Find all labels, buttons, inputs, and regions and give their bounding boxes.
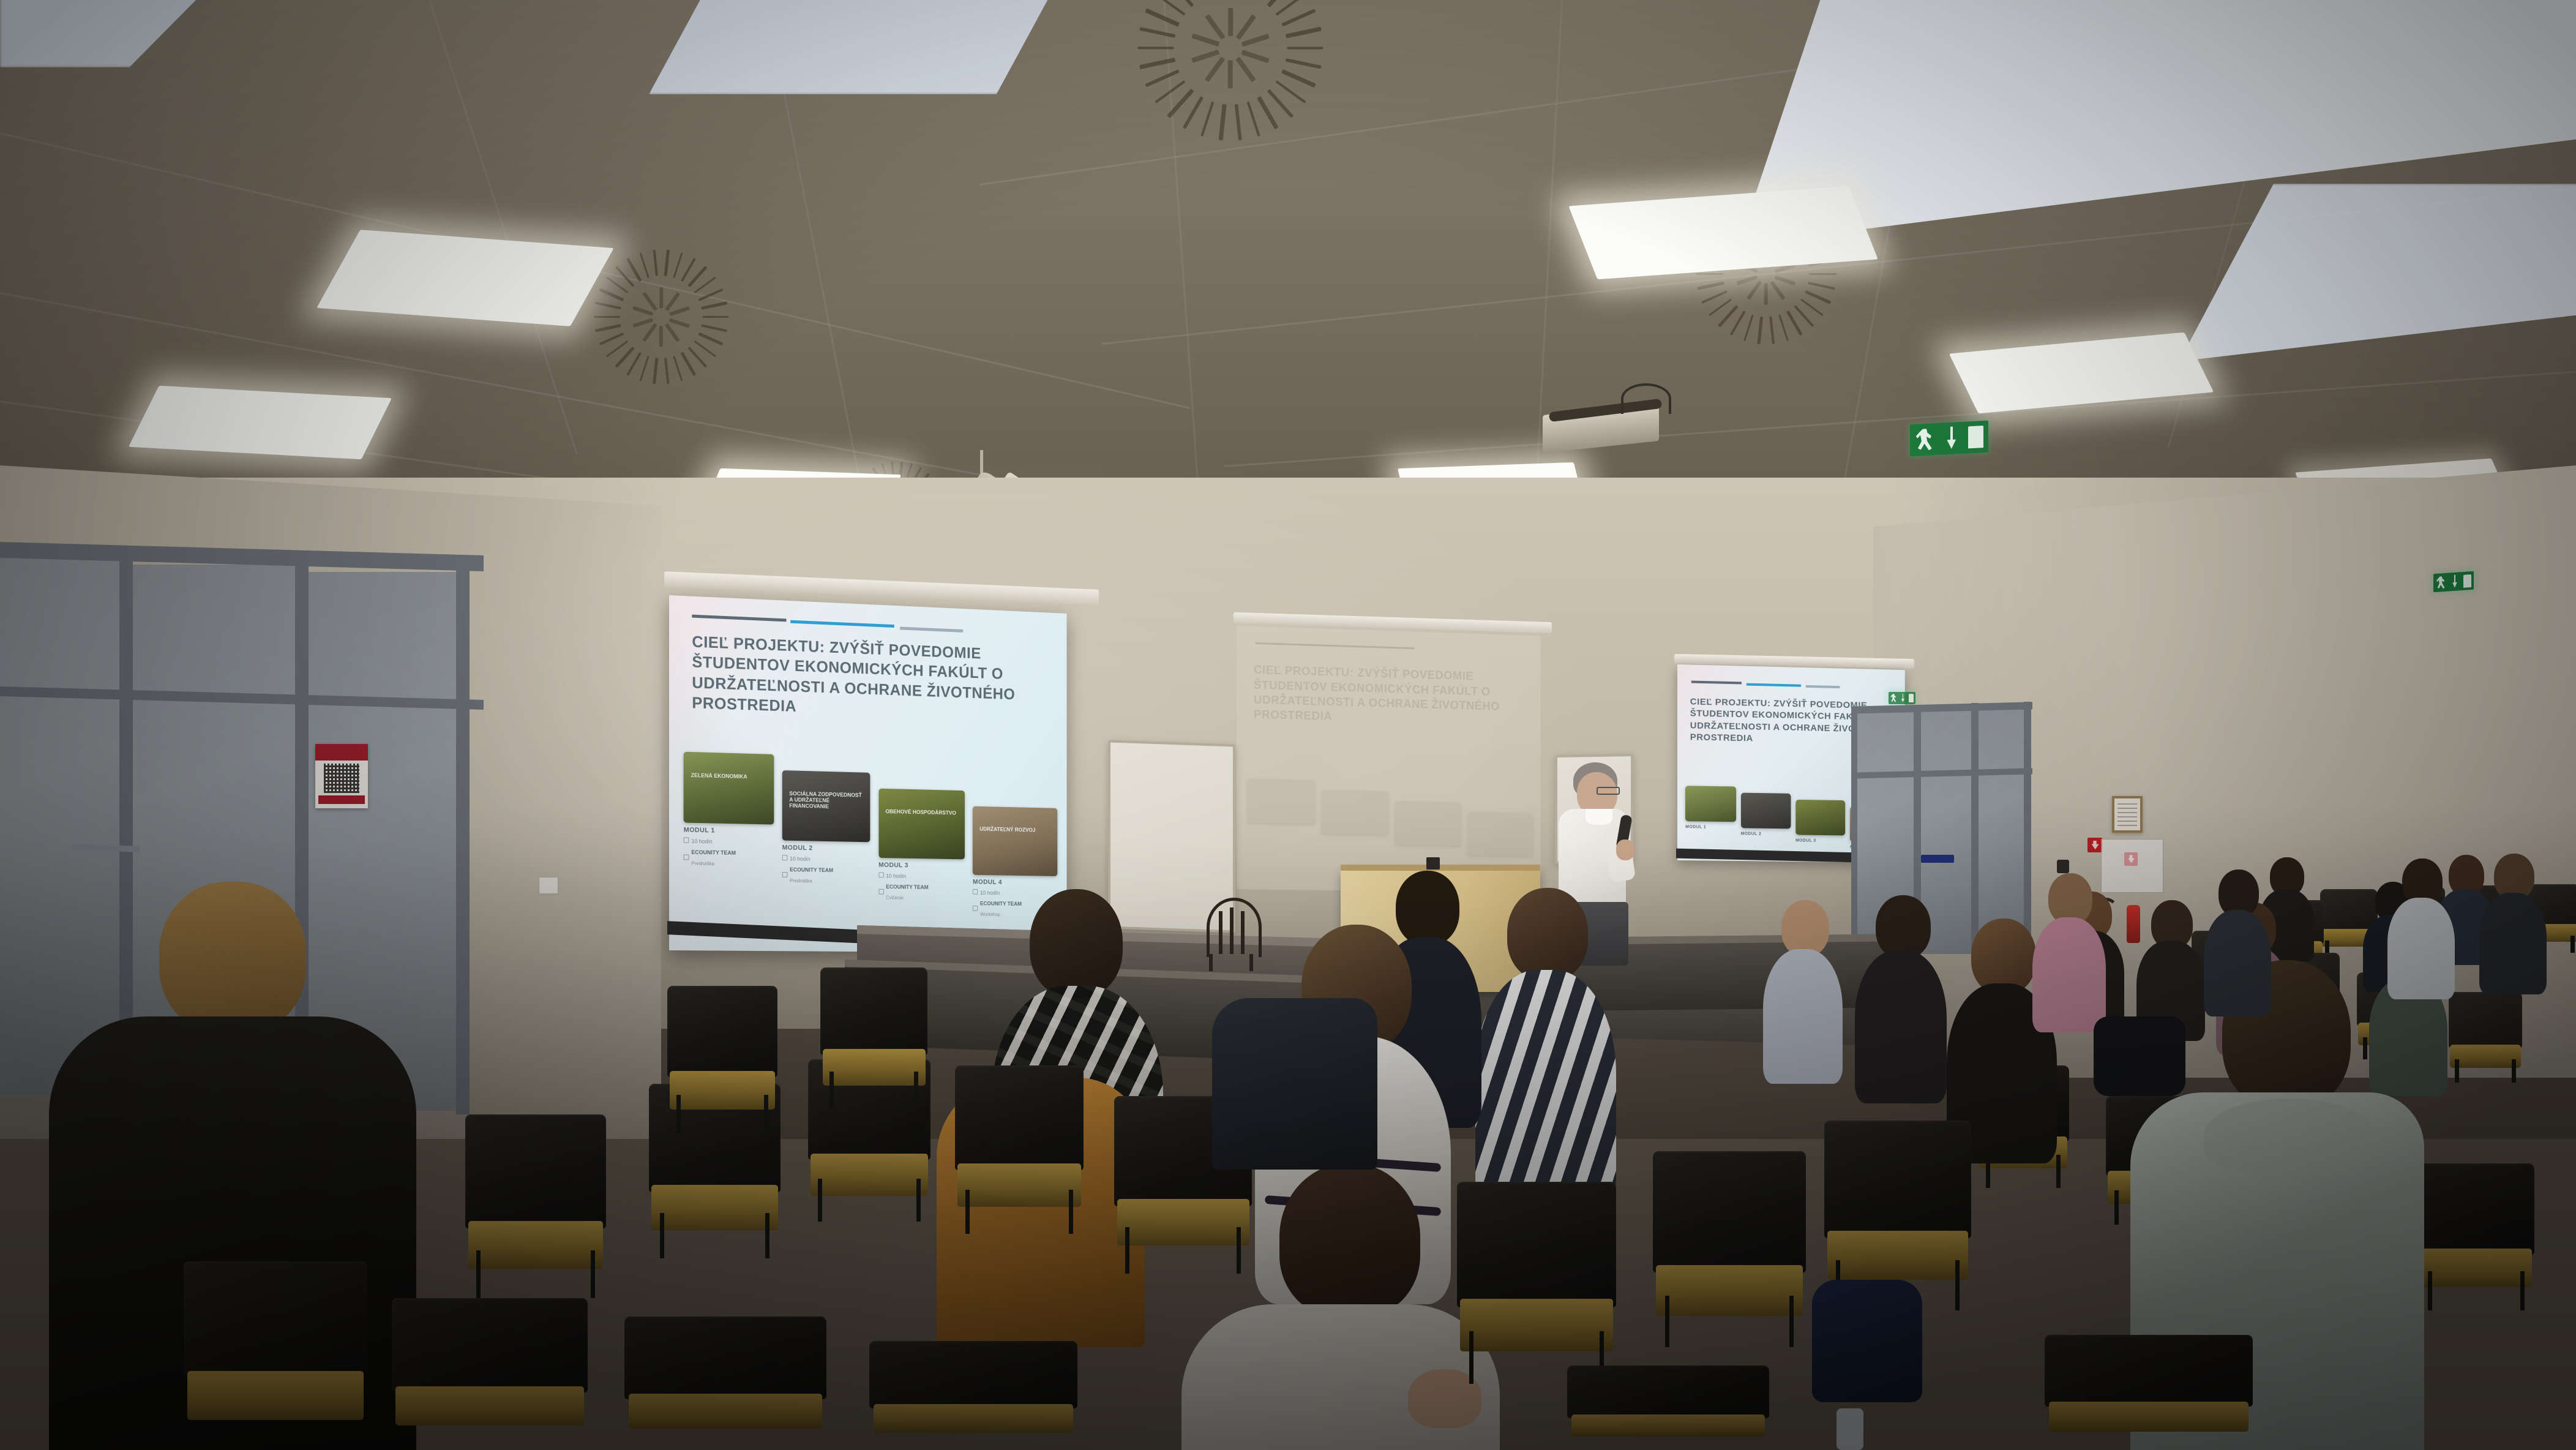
door-mullion [1971,703,1979,955]
slide-module-card [1467,813,1533,857]
glasses-icon [1597,787,1620,795]
chair[interactable] [955,1065,1084,1234]
slide-module-card: MODUL 3 [1795,800,1845,849]
wall-switch-plate[interactable] [539,877,558,894]
chair-back [465,1114,606,1228]
module-sub: Prednáška [691,861,714,867]
module-thumbnail [1467,813,1533,857]
chair-seat [1571,1414,1765,1437]
door-room-label [1921,855,1954,863]
module-label: MODUL 1 [1685,825,1736,830]
audience-member [2387,858,2455,999]
module-thumbnail [1685,786,1736,822]
presenter-collar [1586,809,1612,825]
chair[interactable] [1457,1182,1616,1384]
lectern-top [1341,865,1540,871]
person-torso [1855,950,1947,1103]
lecture-hall-photo: učebňa 8 ↓ CIEĽ PROJEKTU: ZVÝŠIŤ POVEDOM… [0,0,2576,1450]
door-icon [1909,694,1914,702]
chair-back [1457,1182,1616,1307]
module-team: ECOUNITY TEAM [691,849,735,856]
module-thumb-text: UDRŽATEĽNÝ ROZVOJ [979,825,1050,833]
module-team-wrap: ECOUNITY TEAMPrednáška [691,846,735,869]
emergency-exit-sign [2433,571,2474,593]
slide-title: CIEĽ PROJEKTU: ZVÝŠIŤ POVEDOMIE ŠTUDENTO… [692,632,1049,725]
person-head [1781,900,1829,956]
emergency-exit-sign [1910,421,1988,457]
running-person-icon [2436,576,2446,590]
module-duration: 10 hodín [886,873,906,879]
module-sub: Prednáška [790,878,812,884]
module-label: MODUL 3 [878,862,965,870]
chair-seat [811,1154,928,1196]
chair-back [1824,1121,1971,1238]
swirl-air-diffuser [588,282,735,349]
hoodie-hood [2204,1099,2375,1172]
qr-code-icon [324,764,359,793]
poster-footer-band [318,795,365,804]
chair-back [2418,1163,2534,1255]
slide-rule-dark [1691,680,1742,684]
chair-seat [1460,1299,1613,1351]
chair-seat [1117,1199,1249,1245]
chair[interactable] [667,986,777,1133]
chair-seat [2421,1249,2532,1287]
chair-back [820,967,927,1055]
module-bullet-icon [782,855,788,860]
swirl-air-diffuser [1129,0,1331,92]
module-label: MODUL 4 [973,879,1057,887]
chair-back [869,1341,1077,1408]
audience-member [1763,900,1843,1084]
slide-title-faint: CIEĽ PROJEKTU: ZVÝŠIŤ POVEDOMIE ŠTUDENTO… [1254,663,1527,730]
module-bullet-icon [878,888,883,894]
module-label: MODUL 1 [684,827,774,836]
backpack [1812,1280,1922,1402]
water-bottle [1837,1408,1863,1450]
slide-rule-gray [900,627,962,633]
ceiling-light-panel [129,386,392,459]
slide-module-card [1395,802,1461,856]
arrow-down-icon [1900,694,1905,702]
door-icon [1968,426,1984,449]
chair[interactable] [1653,1151,1806,1347]
module-bullet-icon [782,872,788,877]
module-team-wrap: ECOUNITY TEAMPrednáška [790,863,833,886]
slide-module-card: MODUL 2 [1741,793,1791,849]
chair-back [1653,1151,1806,1272]
slide-module-card: MODUL 1 [1685,786,1736,849]
chair-back [955,1065,1084,1170]
slide-surface-faint: CIEĽ PROJEKTU: ZVÝŠIŤ POVEDOMIE ŠTUDENTO… [1237,626,1540,893]
chair[interactable] [624,1317,826,1450]
slide-rule-accent [1747,683,1801,686]
presenter-hand [1616,840,1634,860]
fire-equipment-panel [2101,839,2163,893]
slide-module-card [1248,779,1316,854]
module-thumbnail: SOCIÁLNA ZODPOVEDNOSŤ A UDRŽATEĽNÉ FINAN… [782,770,871,842]
audience-member [1855,895,1947,1103]
chair-back [392,1298,588,1392]
person-torso [2032,917,2106,1032]
person-torso [2387,898,2455,999]
module-label: MODUL 2 [782,844,871,853]
audience-member [2204,870,2271,1016]
chair-seat [1656,1265,1803,1316]
chair-back [2449,992,2522,1048]
framed-notice [2112,796,2143,833]
chair-seat [2049,1402,2248,1432]
door-mullion [2024,702,2031,953]
module-thumb-text: ZELENÁ EKONOMIKA [691,772,767,780]
chair-seat [187,1371,364,1420]
module-thumb-text: SOCIÁLNA ZODPOVEDNOSŤ A UDRŽATEĽNÉ FINAN… [789,791,863,810]
door-icon [2463,574,2471,587]
slide-module-card: SOCIÁLNA ZODPOVEDNOSŤ A UDRŽATEĽNÉ FINAN… [782,770,871,918]
module-bullet-icon [684,837,689,843]
audience-member [2032,873,2106,1032]
chair-seat [629,1394,823,1429]
chair-seat [957,1163,1081,1208]
audience-member [2479,854,2547,994]
running-person-icon [1915,429,1935,451]
poster-header-band [315,744,368,761]
chair-seat [823,1049,926,1086]
chair-seat [2450,1045,2520,1068]
slide-rule-dark [692,615,786,622]
module-sub: Cvičenie [886,895,904,901]
chair[interactable] [869,1341,1077,1450]
chair[interactable] [2449,992,2522,1083]
module-team-wrap: ECOUNITY TEAMCvičenie [886,881,928,903]
module-team: ECOUNITY TEAM [886,884,928,890]
chair[interactable] [392,1298,588,1450]
door-handle[interactable] [1928,882,1969,886]
chair-seat [395,1386,583,1426]
module-bullet-icon [973,906,978,911]
person-torso [2479,893,2547,994]
chair-back [624,1317,826,1399]
fire-equipment-sign [2087,838,2102,852]
chair[interactable] [184,1261,367,1450]
module-thumbnail [1248,779,1316,824]
slide-rule-dark [1255,642,1414,649]
running-person-icon [1890,694,1897,702]
ceiling-projector [1543,392,1677,459]
chair[interactable] [465,1114,606,1298]
chair-back [2045,1335,2253,1407]
projection-screen-middle: CIEĽ PROJEKTU: ZVÝŠIŤ POVEDOMIE ŠTUDENTO… [1237,626,1540,893]
module-thumbnail: UDRŽATEĽNÝ ROZVOJ [973,806,1057,876]
person-head [159,882,306,1035]
module-label: MODUL 3 [1795,839,1845,844]
person-head [1279,1163,1420,1317]
chair-seat [651,1185,777,1230]
chair-back [1567,1365,1769,1418]
module-thumbnail [1741,793,1791,829]
module-thumbnail [1395,802,1461,846]
module-bullet-icon [684,854,689,860]
module-bullet-icon [973,889,978,895]
chair[interactable] [820,967,927,1108]
module-thumbnail [1795,800,1845,836]
slide-rule-accent [790,620,894,628]
door-mullion [456,569,470,1114]
slide-module-card: ZELENÁ EKONOMIKA MODUL 1 10 hodín ECOUNI… [684,752,774,917]
chair-seat [670,1071,776,1109]
module-duration: 10 hodín [790,856,811,862]
person-head [1030,889,1123,998]
slide-module-row-faint [1248,779,1533,857]
counter-object [1426,857,1440,870]
arrow-down-icon [2451,575,2458,588]
chair-seat [874,1404,1073,1432]
chair[interactable] [2045,1335,2253,1450]
emergency-exit-sign [1889,692,1915,704]
arrow-down-icon [1944,426,1958,450]
module-duration: 10 hodín [691,838,712,845]
slide-module-card: OBEHOVÉ HOSPODÁRSTVO MODUL 3 10 hodín EC… [878,789,965,918]
module-team: ECOUNITY TEAM [790,866,833,873]
module-thumbnail [1322,790,1389,835]
slide-module-card [1322,790,1389,854]
chair-seat [468,1221,604,1269]
module-label: MODUL 2 [1741,832,1791,837]
coat-on-chair [1212,998,1377,1170]
slide-rule-gray [1806,685,1840,688]
module-thumbnail: ZELENÁ EKONOMIKA [684,752,774,825]
person-head [1876,895,1931,959]
chair[interactable] [2418,1163,2534,1310]
ornate-chair[interactable] [1203,898,1260,971]
chair-seat [1827,1231,1968,1280]
person-head [1507,888,1588,981]
bag-on-floor [2094,1016,2185,1096]
chair-back [184,1261,367,1378]
chair-back [667,986,777,1077]
chair[interactable] [1567,1365,1769,1450]
person-torso [2204,910,2271,1016]
module-thumb-text: OBEHOVÉ HOSPODÁRSTVO [885,808,957,816]
door-glass-panel[interactable] [1979,707,2026,952]
wall-mounted-box[interactable] [2057,860,2069,873]
module-thumbnail: OBEHOVÉ HOSPODÁRSTVO [878,789,965,860]
qr-code-poster [315,744,368,808]
audience-member [1475,888,1616,1206]
module-bullet-icon [878,872,883,877]
person-torso [1763,949,1843,1084]
